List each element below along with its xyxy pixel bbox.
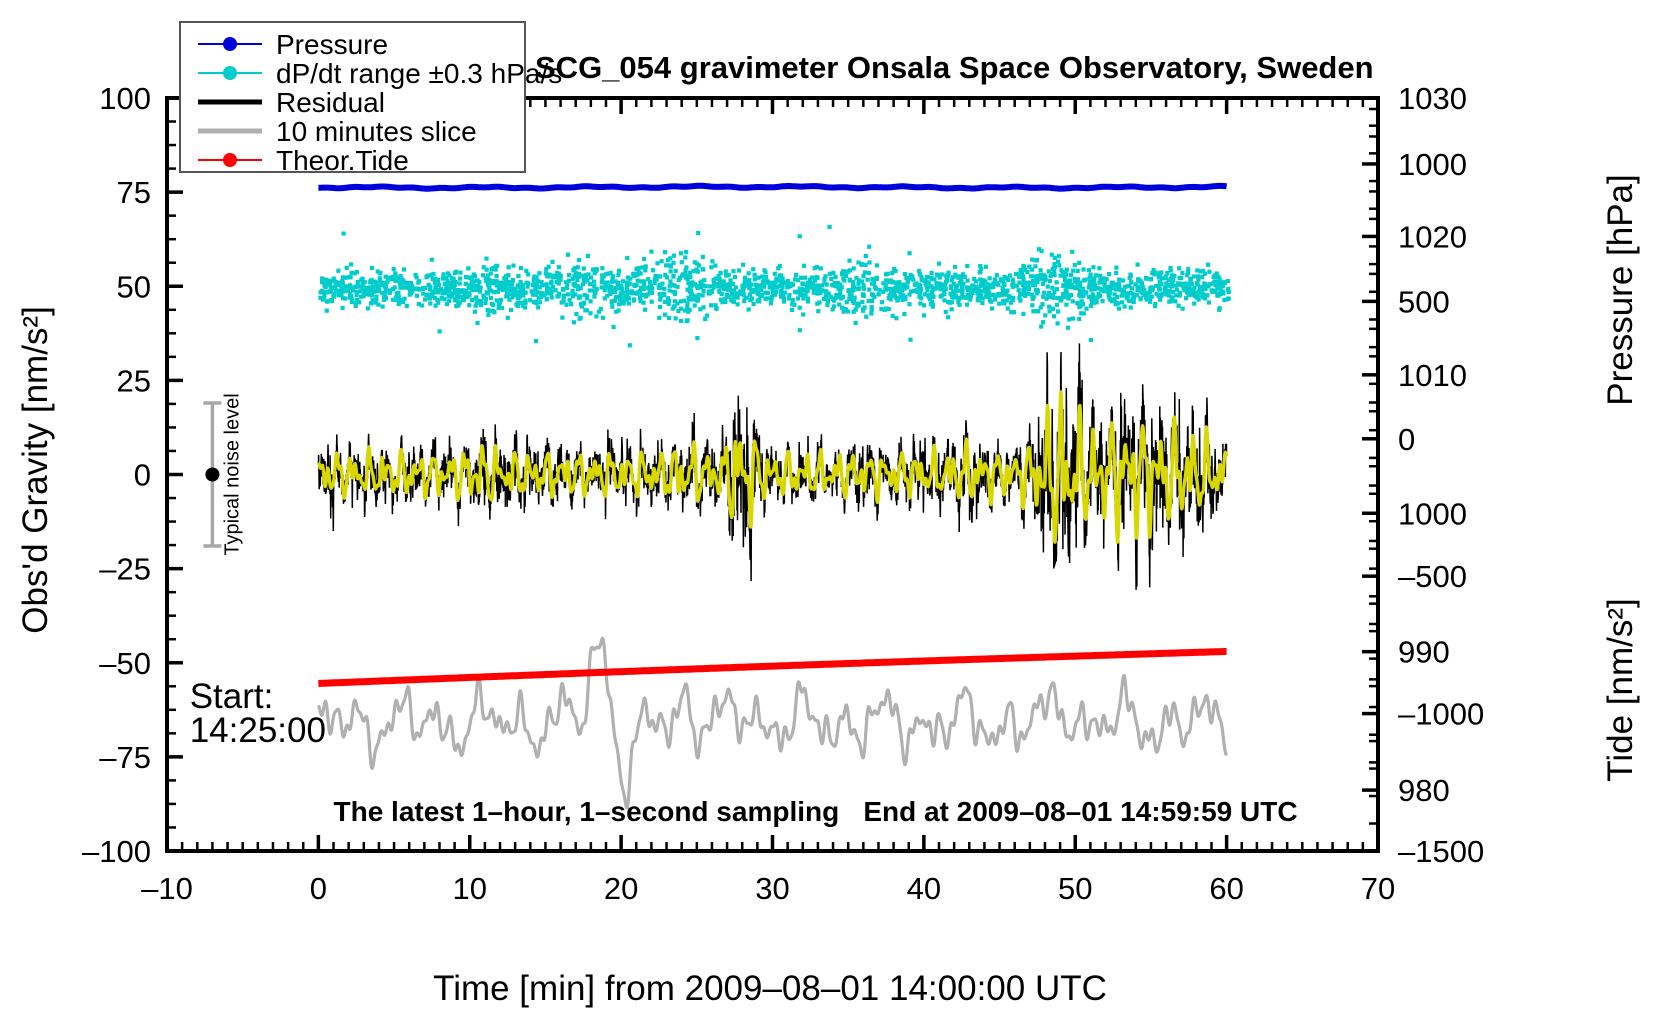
dpdt-point (320, 276, 324, 280)
dpdt-point (441, 272, 445, 276)
dpdt-point (977, 287, 981, 291)
y-tick-label: 25 (117, 363, 151, 398)
dpdt-point (828, 272, 832, 276)
dpdt-point (779, 273, 783, 277)
dpdt-point (1077, 317, 1081, 321)
dpdt-point (1215, 280, 1219, 284)
y-tick-label: 0 (134, 458, 151, 493)
dpdt-point (907, 251, 911, 255)
dpdt-point (593, 291, 597, 295)
dpdt-point (458, 271, 462, 275)
dpdt-point (1062, 273, 1066, 277)
dpdt-point (350, 271, 354, 275)
dpdt-point (854, 308, 858, 312)
dpdt-point (536, 305, 540, 309)
legend-marker (223, 153, 237, 167)
dpdt-point (654, 274, 658, 278)
dpdt-point (737, 268, 741, 272)
dpdt-point (1114, 271, 1118, 275)
y-tick-label: 100 (99, 81, 151, 116)
dpdt-point (362, 294, 366, 298)
dpdt-point (341, 306, 345, 310)
dpdt-point (368, 285, 372, 289)
dpdt-point (685, 319, 689, 323)
dpdt-point (562, 295, 566, 299)
dpdt-point (1036, 289, 1040, 293)
dpdt-point (1089, 295, 1093, 299)
dpdt-point (628, 343, 632, 347)
dpdt-point (1136, 263, 1140, 267)
dpdt-point (1121, 292, 1125, 296)
dpdt-point (486, 275, 490, 279)
dpdt-point (669, 264, 673, 268)
dpdt-point (684, 276, 688, 280)
dpdt-point (837, 302, 841, 306)
dpdt-point (767, 281, 771, 285)
dpdt-point (763, 297, 767, 301)
dpdt-point (1071, 299, 1075, 303)
dpdt-point (1041, 320, 1045, 324)
dpdt-point (942, 292, 946, 296)
dpdt-point (1030, 293, 1034, 297)
dpdt-point (1077, 261, 1081, 265)
y-tick-label: 75 (117, 175, 151, 210)
dpdt-point (1006, 306, 1010, 310)
dpdt-point (693, 282, 697, 286)
dpdt-point (1052, 290, 1056, 294)
dpdt-point (751, 267, 755, 271)
tide-tick-label: –500 (1398, 559, 1467, 594)
dpdt-point (440, 296, 444, 300)
dpdt-point (582, 266, 586, 270)
dpdt-point (798, 234, 802, 238)
dpdt-point (454, 270, 458, 274)
dpdt-point (1002, 275, 1006, 279)
dpdt-point (906, 279, 910, 283)
gravimeter-plot: –10010203040506070–100–75–50–25025507510… (0, 0, 1676, 1020)
dpdt-point (1213, 290, 1217, 294)
dpdt-point (658, 293, 662, 297)
dpdt-point (1133, 282, 1137, 286)
dpdt-point (397, 302, 401, 306)
dpdt-point (1043, 313, 1047, 317)
x-tick-label: 50 (1058, 871, 1092, 906)
dpdt-point (605, 294, 609, 298)
dpdt-point (495, 274, 499, 278)
dpdt-point (436, 301, 440, 305)
dpdt-point (1062, 295, 1066, 299)
dpdt-point (492, 310, 496, 314)
dpdt-point (524, 269, 528, 273)
dpdt-point (995, 273, 999, 277)
dpdt-point (940, 283, 944, 287)
dpdt-point (747, 307, 751, 311)
dpdt-point (374, 295, 378, 299)
dpdt-point (648, 280, 652, 284)
dpdt-point (710, 290, 714, 294)
dpdt-point (796, 296, 800, 300)
dpdt-point (506, 316, 510, 320)
dpdt-point (756, 292, 760, 296)
dpdt-point (693, 303, 697, 307)
dpdt-point (658, 305, 662, 309)
dpdt-point (477, 280, 481, 284)
dpdt-point (915, 281, 919, 285)
dpdt-point (1189, 282, 1193, 286)
dpdt-point (577, 272, 581, 276)
dpdt-point (1066, 326, 1070, 330)
dpdt-point (864, 315, 868, 319)
dpdt-point (730, 298, 734, 302)
dpdt-point (592, 295, 596, 299)
dpdt-point (889, 297, 893, 301)
dpdt-point (625, 281, 629, 285)
dpdt-point (575, 278, 579, 282)
dpdt-point (465, 275, 469, 279)
dpdt-point (842, 278, 846, 282)
dpdt-point (626, 276, 630, 280)
dpdt-point (555, 274, 559, 278)
dpdt-point (1169, 268, 1173, 272)
dpdt-point (486, 313, 490, 317)
dpdt-point (902, 312, 906, 316)
dpdt-point (664, 263, 668, 267)
dpdt-point (867, 299, 871, 303)
dpdt-point (531, 283, 535, 287)
dpdt-point (1067, 294, 1071, 298)
dpdt-point (735, 296, 739, 300)
dpdt-point (844, 274, 848, 278)
dpdt-point (561, 287, 565, 291)
dpdt-point (832, 283, 836, 287)
dpdt-point (773, 272, 777, 276)
dpdt-point (806, 281, 810, 285)
dpdt-point (1169, 299, 1173, 303)
dpdt-point (1039, 325, 1043, 329)
dpdt-point (378, 271, 382, 275)
dpdt-point (1025, 270, 1029, 274)
dpdt-point (375, 284, 379, 288)
dpdt-point (566, 292, 570, 296)
dpdt-point (852, 285, 856, 289)
dpdt-point (458, 277, 462, 281)
dpdt-point (708, 284, 712, 288)
dpdt-point (895, 298, 899, 302)
dpdt-point (1034, 309, 1038, 313)
dpdt-point (592, 284, 596, 288)
dpdt-point (499, 283, 503, 287)
dpdt-point (1140, 281, 1144, 285)
dpdt-point (538, 285, 542, 289)
dpdt-point (1056, 309, 1060, 313)
dpdt-point (614, 310, 618, 314)
dpdt-point (667, 316, 671, 320)
dpdt-point (951, 275, 955, 279)
dpdt-point (1178, 293, 1182, 297)
dpdt-point (361, 277, 365, 281)
dpdt-point (565, 286, 569, 290)
dpdt-point (732, 289, 736, 293)
dpdt-point (625, 289, 629, 293)
dpdt-point (888, 293, 892, 297)
dpdt-point (550, 260, 554, 264)
dpdt-point (519, 266, 523, 270)
dpdt-point (651, 268, 655, 272)
dpdt-point (1207, 300, 1211, 304)
dpdt-point (836, 287, 840, 291)
dpdt-point (881, 281, 885, 285)
dpdt-point (972, 277, 976, 281)
dpdt-point (836, 281, 840, 285)
dpdt-point (640, 265, 644, 269)
dpdt-point (322, 283, 326, 287)
dpdt-point (475, 321, 479, 325)
x-tick-label: 60 (1209, 871, 1243, 906)
dpdt-point (1073, 263, 1077, 267)
dpdt-point (1168, 289, 1172, 293)
dpdt-point (1021, 283, 1025, 287)
dpdt-point (576, 265, 580, 269)
dpdt-point (875, 263, 879, 267)
dpdt-point (1207, 270, 1211, 274)
dpdt-point (1128, 276, 1132, 280)
dpdt-point (549, 281, 553, 285)
dpdt-point (1041, 295, 1045, 299)
dpdt-point (888, 287, 892, 291)
dpdt-point (956, 276, 960, 280)
y-axis-right-bottom-label: Tide [nm/s²] (1601, 598, 1640, 781)
dpdt-point (719, 298, 723, 302)
dpdt-point (1117, 282, 1121, 286)
dpdt-point (1180, 271, 1184, 275)
dpdt-point (1021, 264, 1025, 268)
dpdt-point (1047, 295, 1051, 299)
dpdt-point (357, 300, 361, 304)
dpdt-point (907, 302, 911, 306)
dpdt-point (485, 268, 489, 272)
dpdt-point (1188, 277, 1192, 281)
x-tick-label: 40 (907, 871, 941, 906)
dpdt-point (490, 302, 494, 306)
dpdt-point (1095, 295, 1099, 299)
dpdt-point (845, 300, 849, 304)
dpdt-point (753, 277, 757, 281)
dpdt-point (894, 316, 898, 320)
dpdt-point (909, 289, 913, 293)
dpdt-point (721, 280, 725, 284)
dpdt-point (1091, 265, 1095, 269)
dpdt-point (715, 307, 719, 311)
chart-title: SCG_054 gravimeter Onsala Space Observat… (535, 50, 1374, 85)
dpdt-point (1011, 296, 1015, 300)
dpdt-point (819, 266, 823, 270)
dpdt-point (600, 273, 604, 277)
dpdt-point (997, 302, 1001, 306)
dpdt-point (919, 287, 923, 291)
dpdt-point (701, 293, 705, 297)
dpdt-point (949, 286, 953, 290)
dpdt-point (851, 299, 855, 303)
dpdt-point (430, 291, 434, 295)
dpdt-point (922, 313, 926, 317)
dpdt-point (1184, 286, 1188, 290)
dpdt-point (899, 284, 903, 288)
dpdt-point (822, 277, 826, 281)
dpdt-point (406, 281, 410, 285)
dpdt-point (642, 257, 646, 261)
dpdt-point (993, 277, 997, 281)
dpdt-point (572, 320, 576, 324)
dpdt-point (1170, 273, 1174, 277)
dpdt-point (491, 266, 495, 270)
dpdt-point (867, 271, 871, 275)
dpdt-point (793, 277, 797, 281)
dpdt-point (1123, 285, 1127, 289)
dpdt-point (1150, 285, 1154, 289)
x-tick-label: 30 (755, 871, 789, 906)
dpdt-point (523, 299, 527, 303)
dpdt-point (1114, 266, 1118, 270)
dpdt-point (1070, 250, 1074, 254)
dpdt-point (631, 272, 635, 276)
dpdt-point (1001, 299, 1005, 303)
dpdt-point (1120, 300, 1124, 304)
dpdt-point (1027, 287, 1031, 291)
dpdt-point (336, 269, 340, 273)
dpdt-point (731, 269, 735, 273)
dpdt-point (773, 281, 777, 285)
dpdt-point (815, 292, 819, 296)
dpdt-point (803, 276, 807, 280)
dpdt-point (612, 299, 616, 303)
series-pressure (318, 186, 1226, 189)
dpdt-point (526, 285, 530, 289)
dpdt-point (450, 281, 454, 285)
dpdt-point (696, 270, 700, 274)
dpdt-point (786, 279, 790, 283)
dpdt-point (641, 279, 645, 283)
dpdt-point (473, 310, 477, 314)
legend: PressuredP/dt range ±0.3 hPa/sResidual10… (180, 22, 562, 176)
dpdt-point (450, 276, 454, 280)
dpdt-point (1094, 273, 1098, 277)
dpdt-point (1087, 268, 1091, 272)
dpdt-point (1108, 298, 1112, 302)
dpdt-point (644, 264, 648, 268)
dpdt-point (1174, 293, 1178, 297)
tide-tick-label: 1000 (1398, 147, 1467, 182)
dpdt-point (1117, 307, 1121, 311)
dpdt-point (1056, 296, 1060, 300)
dpdt-point (1019, 268, 1023, 272)
dpdt-point (470, 298, 474, 302)
dpdt-point (747, 278, 751, 282)
dpdt-point (1105, 277, 1109, 281)
dpdt-point (968, 298, 972, 302)
dpdt-point (1048, 309, 1052, 313)
dpdt-point (1071, 317, 1075, 321)
dpdt-point (672, 254, 676, 258)
dpdt-point (1037, 247, 1041, 251)
dpdt-point (860, 300, 864, 304)
dpdt-point (446, 271, 450, 275)
dpdt-point (1064, 303, 1068, 307)
dpdt-point (1052, 262, 1056, 266)
dpdt-point (969, 294, 973, 298)
dpdt-point (371, 289, 375, 293)
dpdt-point (1090, 300, 1094, 304)
dpdt-point (965, 264, 969, 268)
dpdt-point (376, 303, 380, 307)
dpdt-point (824, 289, 828, 293)
dpdt-point (1196, 278, 1200, 282)
dpdt-point (456, 303, 460, 307)
dpdt-point (632, 297, 636, 301)
dpdt-point (516, 301, 520, 305)
dpdt-point (736, 302, 740, 306)
dpdt-point (1030, 258, 1034, 262)
x-tick-label: 20 (604, 871, 638, 906)
dpdt-point (381, 305, 385, 309)
dpdt-point (1039, 273, 1043, 277)
dpdt-point (963, 275, 967, 279)
dpdt-point (1158, 274, 1162, 278)
dpdt-point (792, 303, 796, 307)
dpdt-point (946, 315, 950, 319)
dpdt-point (886, 272, 890, 276)
dpdt-point (415, 294, 419, 298)
dpdt-point (349, 262, 353, 266)
dpdt-point (1155, 292, 1159, 296)
dpdt-point (1126, 294, 1130, 298)
dpdt-point (1050, 286, 1054, 290)
dpdt-point (1159, 270, 1163, 274)
dpdt-point (848, 293, 852, 297)
dpdt-point (1200, 290, 1204, 294)
dpdt-point (1047, 305, 1051, 309)
dpdt-point (447, 299, 451, 303)
dpdt-point (592, 280, 596, 284)
dpdt-point (653, 281, 657, 285)
dpdt-point (820, 283, 824, 287)
dpdt-point (1210, 288, 1214, 292)
dpdt-point (1021, 277, 1025, 281)
dpdt-point (1130, 299, 1134, 303)
dpdt-point (416, 281, 420, 285)
dpdt-point (1135, 288, 1139, 292)
dpdt-point (383, 281, 387, 285)
legend-label-4: Theor.Tide (276, 145, 409, 176)
dpdt-point (532, 277, 536, 281)
dpdt-point (1073, 280, 1077, 284)
dpdt-point (643, 308, 647, 312)
dpdt-point (870, 305, 874, 309)
dpdt-point (507, 282, 511, 286)
dpdt-point (443, 276, 447, 280)
dpdt-point (450, 285, 454, 289)
dpdt-point (341, 275, 345, 279)
dpdt-point (852, 266, 856, 270)
dpdt-point (583, 293, 587, 297)
dpdt-point (369, 280, 373, 284)
dpdt-point (1055, 280, 1059, 284)
dpdt-point (713, 264, 717, 268)
dpdt-point (1097, 266, 1101, 270)
dpdt-point (1131, 292, 1135, 296)
dpdt-point (1039, 268, 1043, 272)
dpdt-point (976, 293, 980, 297)
dpdt-point (820, 288, 824, 292)
